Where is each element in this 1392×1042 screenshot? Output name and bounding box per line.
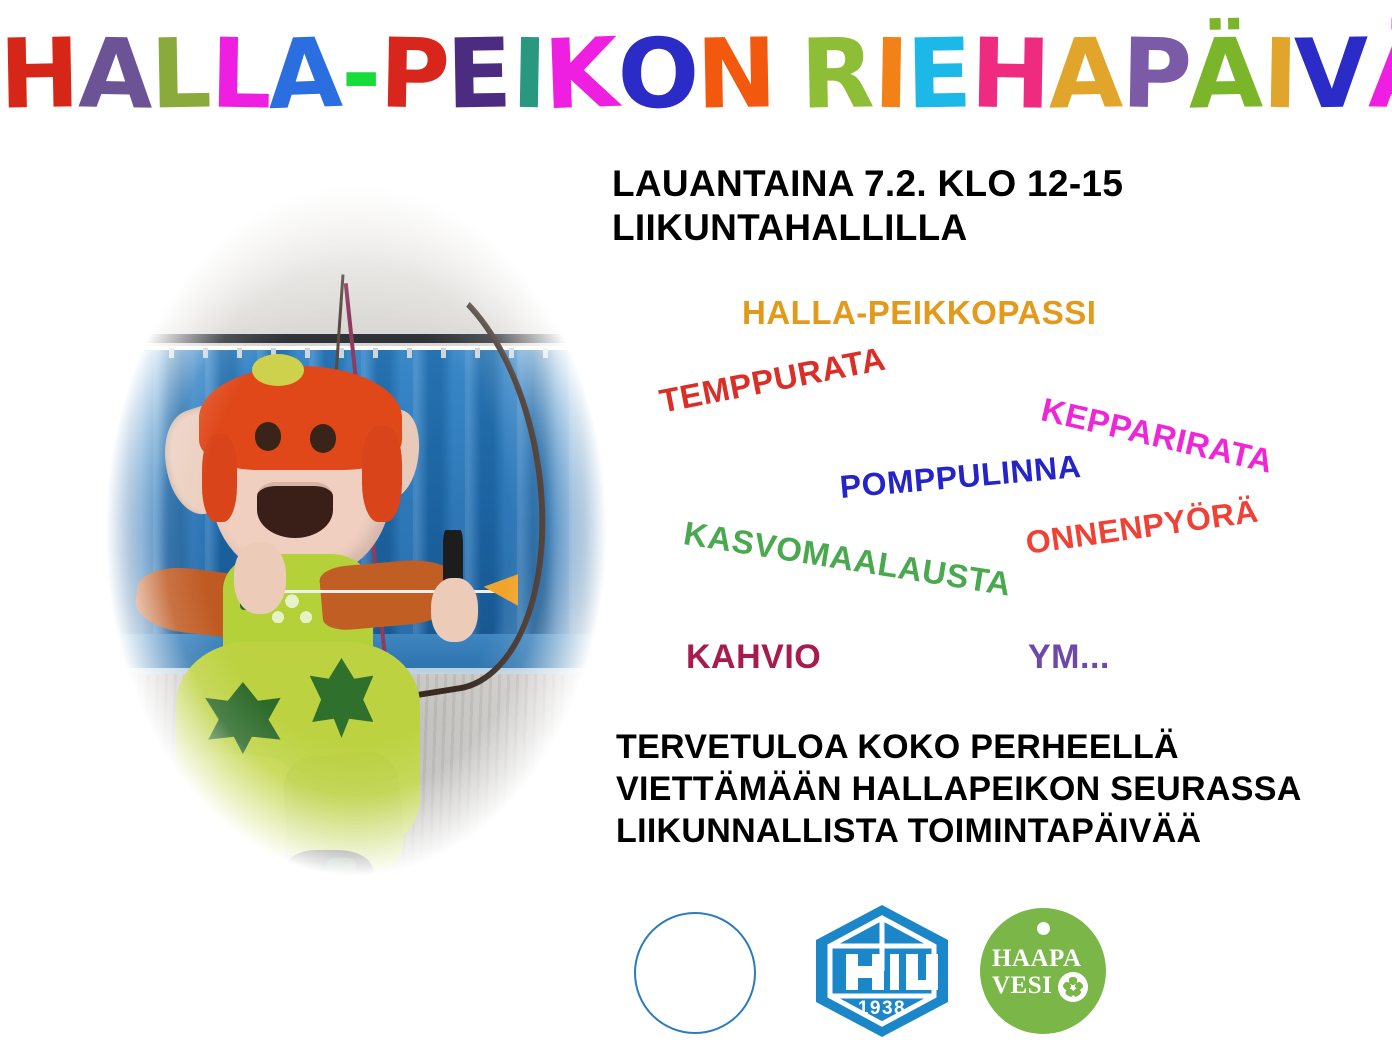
activity-temppurata: TEMPPURATA [656, 340, 888, 421]
welcome-line-one: TERVETULOA KOKO PERHEELLÄ [616, 728, 1179, 767]
logo-haapaveden-latu: HAAPAVEDEN [630, 908, 760, 1034]
welcome-line-three: LIIKUNNALLISTA TOIMINTAPÄIVÄÄ [616, 812, 1201, 851]
activity-onnenpyora: ONNENPYÖRÄ [1023, 493, 1260, 562]
mascot-hand-right [431, 578, 477, 642]
activity-halla-peikkopassi: HALLA-PEIKKOPASSI [742, 294, 1096, 332]
logo-hiu: 1938 [810, 902, 954, 1040]
haapavesi-tree-icon [1058, 972, 1088, 1002]
activity-pomppulinna: POMPPULINNA [838, 448, 1082, 506]
mascot-hair-side-right [362, 426, 403, 522]
logo-haapavesi: HAAPA VESI [980, 908, 1108, 1036]
activity-kasvomaalausta: KASVOMAALAUSTA [681, 514, 1014, 603]
title-letter-10: O [617, 25, 698, 122]
haapavesi-line-one: HAAPA [992, 945, 1096, 972]
title-letter-5: - [341, 26, 379, 122]
event-venue-line: LIIKUNTAHALLILLA [612, 207, 968, 249]
hiu-artwork: 1938 [810, 902, 954, 1040]
title-letter-4: A [266, 25, 342, 123]
title-letter-3: L [210, 25, 271, 122]
title-letter-18: P [1121, 25, 1191, 122]
mascot-mouth [257, 482, 332, 538]
haapavesi-punch-hole [1037, 922, 1050, 935]
title-letter-17: A [1047, 25, 1121, 122]
title-letter-19: Ä [1188, 25, 1262, 122]
mascot-eye-left [255, 422, 282, 451]
latu-ring [634, 912, 756, 1034]
title-letter-7: E [446, 25, 511, 122]
title-letter-20: I [1261, 26, 1296, 123]
title-letter-21: V [1294, 25, 1368, 122]
mascot-shoe-detail [327, 858, 356, 878]
title-letter-14: I [873, 26, 908, 123]
title-letter-9: K [542, 25, 618, 123]
title-letter-6: P [379, 25, 449, 122]
activity-kahvio: KAHVIO [686, 638, 821, 677]
title-letter-2: L [149, 25, 210, 122]
event-poster: HALLA-PEIKONRIEHAPÄIVÄ [0, 0, 1392, 1042]
sponsor-logos: HAAPAVEDEN [630, 898, 1120, 1038]
title-letter-1: A [78, 25, 152, 122]
title-letter-8: I [511, 26, 546, 123]
mascot-headpiece [252, 354, 304, 386]
title-letter-22: Ä [1367, 25, 1392, 122]
welcome-line-two: VIETTÄMÄÄN HALLAPEIKON SEURASSA [616, 770, 1302, 809]
title-letter-13: R [800, 25, 874, 122]
mascot-hair-side-left [202, 434, 237, 522]
mascot-photo [66, 130, 646, 930]
poster-title: HALLA-PEIKONRIEHAPÄIVÄ [0, 26, 1392, 136]
title-letter-0: H [0, 25, 79, 122]
activity-ym-etc: YM... [1028, 638, 1110, 677]
title-letter-16: H [970, 25, 1050, 122]
event-datetime-line: LAUANTAINA 7.2. KLO 12-15 [612, 163, 1123, 205]
mascot-hand-left [234, 542, 286, 614]
hiu-year: 1938 [858, 998, 906, 1019]
mascot-shoe-left [176, 850, 251, 890]
title-letter-15: E [905, 25, 970, 122]
title-letter-11: N [695, 25, 775, 122]
